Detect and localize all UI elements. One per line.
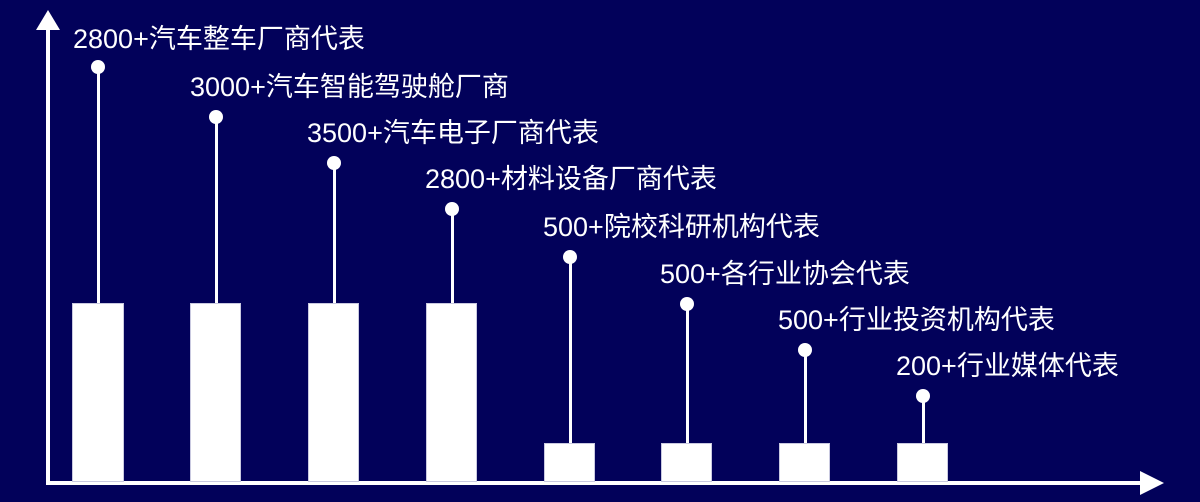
callout-stem-4 [451, 209, 454, 303]
bar-category-3 [308, 303, 359, 482]
callout-dot-8 [916, 389, 930, 403]
callout-dot-1 [91, 60, 105, 74]
callout-stem-6 [686, 304, 689, 443]
callout-stem-8 [922, 396, 925, 443]
callout-stem-7 [804, 350, 807, 443]
callout-dot-2 [209, 110, 223, 124]
data-label-materials-equip: 2800+材料设备厂商代表 [425, 166, 717, 193]
bar-category-4 [426, 303, 477, 482]
bar-category-6 [661, 443, 712, 482]
data-label-investors: 500+行业投资机构代表 [778, 307, 1055, 334]
y-axis-arrow-icon [36, 10, 60, 30]
callout-dot-5 [563, 250, 577, 264]
callout-dot-3 [327, 156, 341, 170]
x-axis-arrow-icon [1140, 471, 1164, 495]
data-label-automakers: 2800+汽车整车厂商代表 [73, 26, 365, 53]
data-label-media: 200+行业媒体代表 [896, 353, 1119, 380]
data-label-smart-cockpit: 3000+汽车智能驾驶舱厂商 [190, 74, 509, 101]
bar-category-1 [72, 303, 124, 482]
callout-stem-5 [569, 257, 572, 443]
data-label-academia-research: 500+院校科研机构代表 [543, 214, 820, 241]
bar-chart-canvas: 2800+汽车整车厂商代表 3000+汽车智能驾驶舱厂商 3500+汽车电子厂商… [0, 0, 1200, 502]
callout-dot-4 [445, 202, 459, 216]
callout-stem-2 [215, 117, 218, 303]
bar-category-7 [779, 443, 830, 482]
bar-category-8 [897, 443, 948, 482]
bar-category-2 [190, 303, 241, 482]
data-label-associations: 500+各行业协会代表 [660, 261, 910, 288]
callout-stem-1 [97, 67, 100, 303]
callout-dot-6 [680, 297, 694, 311]
bar-category-5 [544, 443, 595, 482]
y-axis-line [46, 26, 50, 484]
callout-stem-3 [333, 163, 336, 303]
data-label-auto-electronics: 3500+汽车电子厂商代表 [307, 120, 599, 147]
callout-dot-7 [798, 343, 812, 357]
